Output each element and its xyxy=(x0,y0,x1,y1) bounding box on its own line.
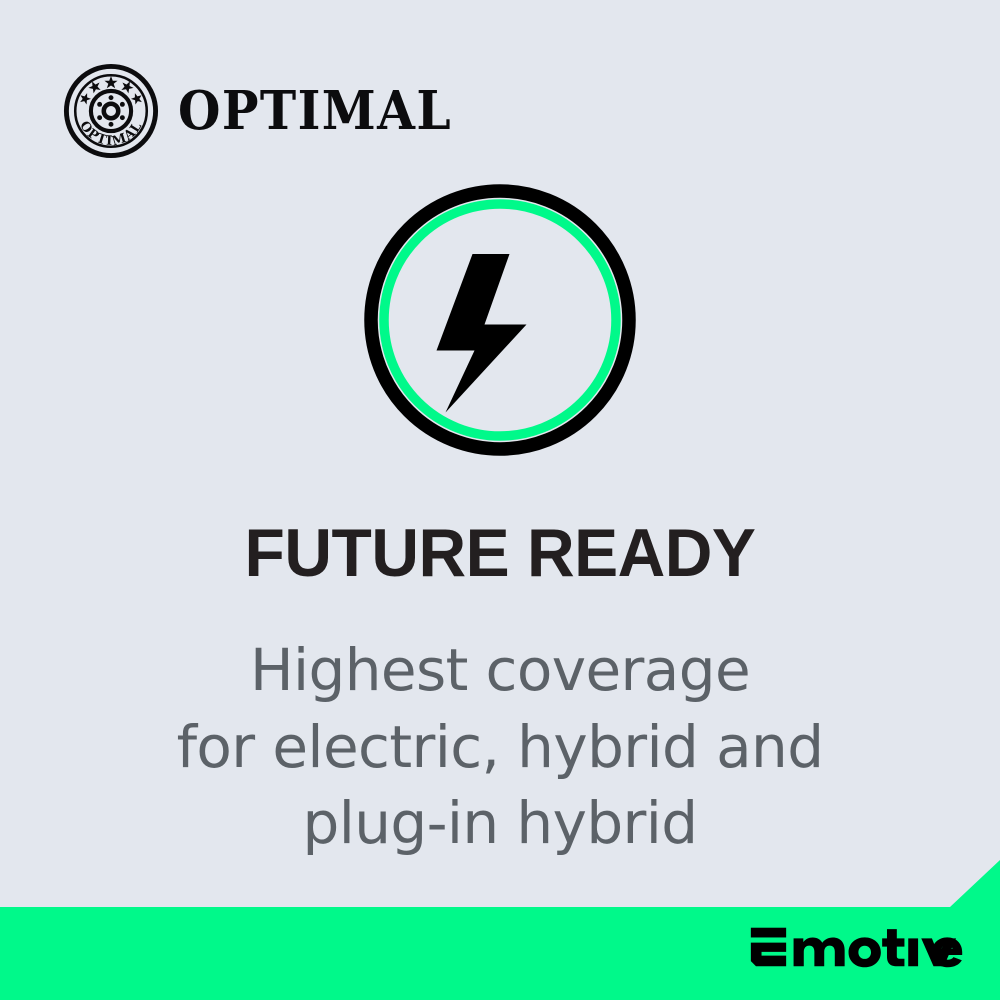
footer-band xyxy=(0,858,1000,1000)
bolt-glyph xyxy=(437,254,527,413)
seal-hub xyxy=(91,91,131,131)
lightning-bolt-in-circle-icon xyxy=(364,184,636,456)
subcopy-line-1: Highest coverage xyxy=(0,632,1000,709)
promo-card: OPTIMAL OPTIMAL xyxy=(0,0,1000,1000)
page-title: FUTURE READY xyxy=(15,518,985,589)
brand-wordmark: OPTIMAL xyxy=(178,85,452,138)
emotive-wordmark-icon xyxy=(749,924,964,976)
subcopy-block: Highest coverage for electric, hybrid an… xyxy=(0,632,1000,862)
subcopy-line-2: for electric, hybrid and xyxy=(0,709,1000,786)
subcopy-line-3: plug-in hybrid xyxy=(0,785,1000,862)
emotive-logo xyxy=(749,924,964,976)
badge-wrapper xyxy=(0,184,1000,456)
brand-lockup: OPTIMAL OPTIMAL xyxy=(62,62,476,160)
optimal-seal-icon: OPTIMAL xyxy=(62,62,160,160)
